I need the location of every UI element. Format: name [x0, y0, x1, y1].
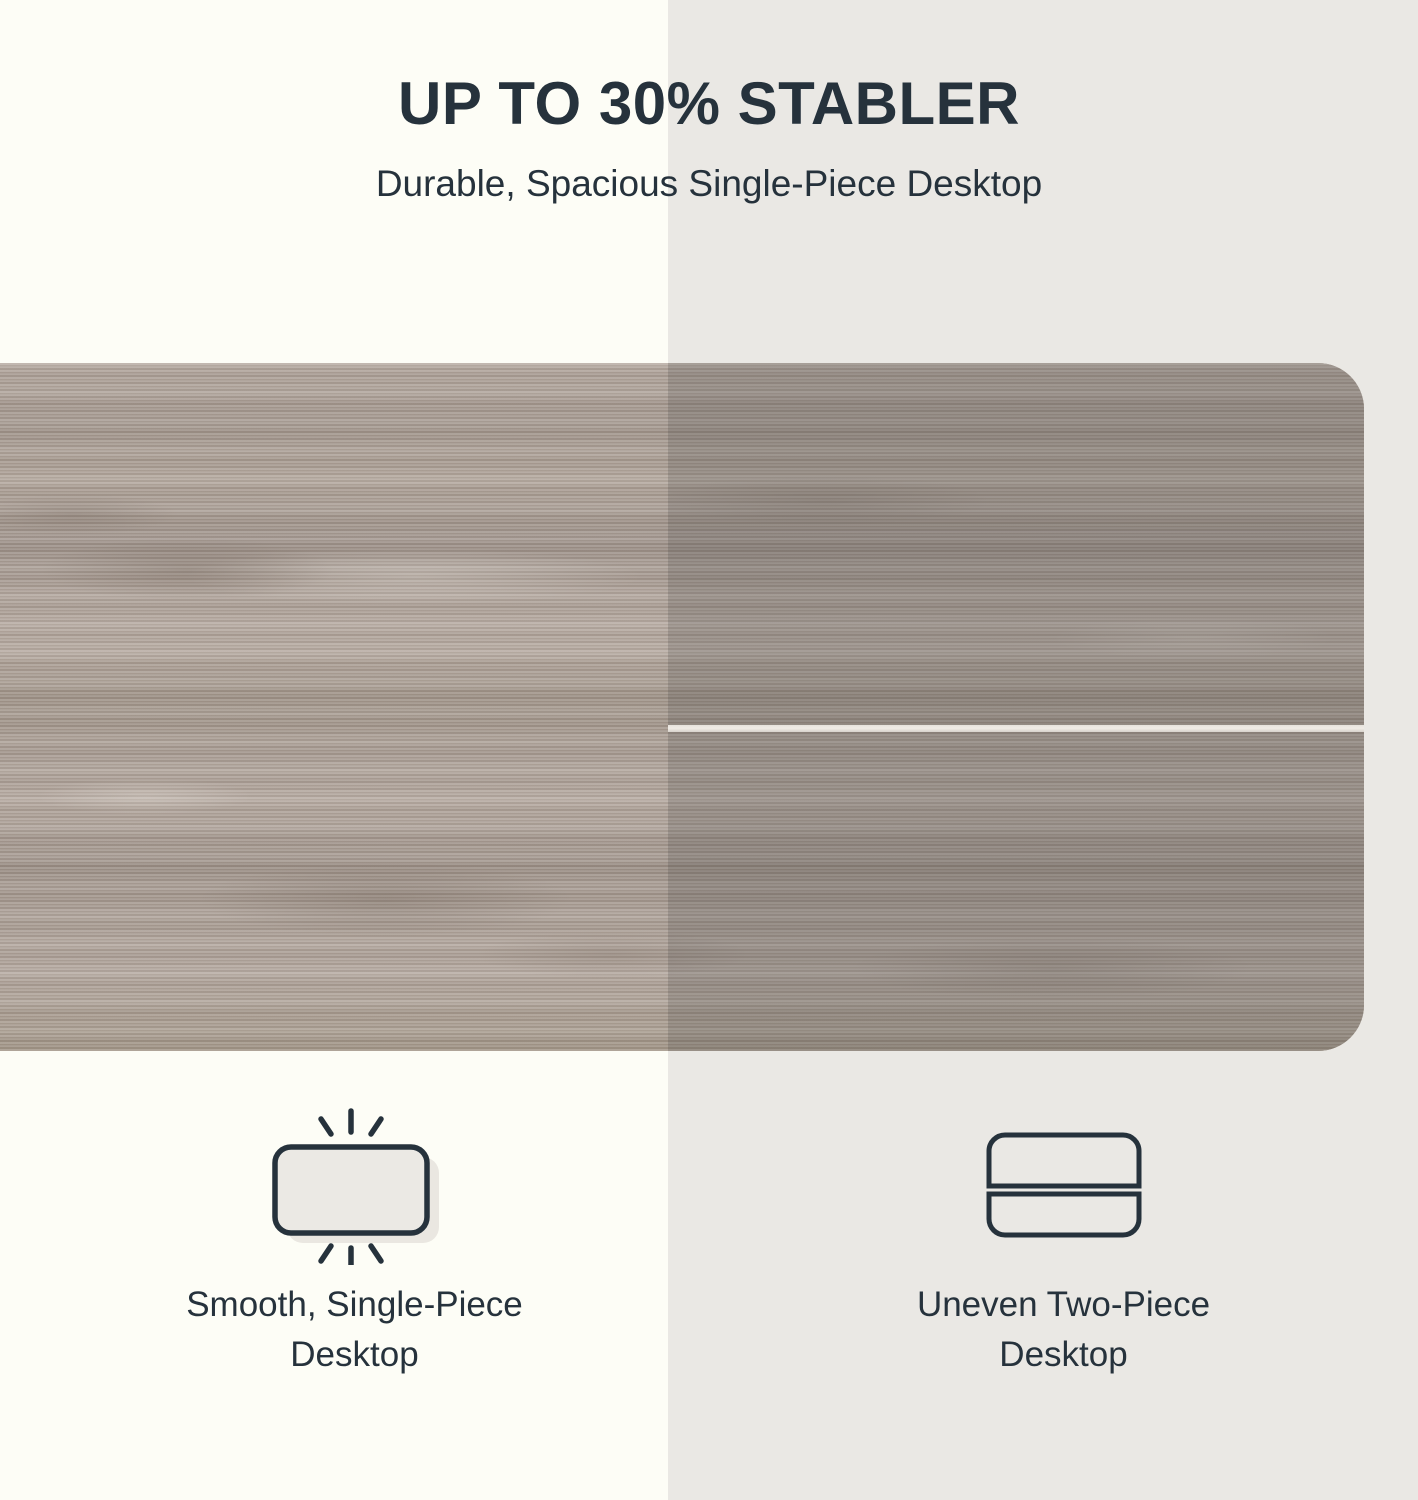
- single-piece-caption: Smooth, Single-Piece Desktop: [186, 1280, 523, 1379]
- comparison-poster: UP TO 30% STABLER Durable, Spacious Sing…: [0, 0, 1418, 1500]
- caption-line-1: Uneven Two-Piece: [917, 1285, 1210, 1324]
- comparison-columns: Smooth, Single-Piece Desktop Uneven Two-…: [0, 1090, 1418, 1450]
- caption-line-2: Desktop: [290, 1335, 418, 1374]
- comparison-column-two-piece: Uneven Two-Piece Desktop: [709, 1090, 1418, 1450]
- caption-line-2: Desktop: [999, 1335, 1127, 1374]
- single-piece-icon-slot: [265, 1090, 445, 1280]
- two-piece-icon-slot: [984, 1090, 1144, 1280]
- page-title: UP TO 30% STABLER: [0, 0, 1418, 136]
- two-piece-caption: Uneven Two-Piece Desktop: [917, 1280, 1210, 1379]
- desktop-surface-image: [0, 363, 1364, 1051]
- two-piece-seam-line: [668, 725, 1364, 732]
- comparison-column-single-piece: Smooth, Single-Piece Desktop: [0, 1090, 709, 1450]
- header-block: UP TO 30% STABLER Durable, Spacious Sing…: [0, 0, 1418, 206]
- right-half-shade-overlay: [668, 363, 1364, 1051]
- two-piece-desktop-icon: [984, 1130, 1144, 1240]
- caption-line-1: Smooth, Single-Piece: [186, 1285, 523, 1324]
- page-subtitle: Durable, Spacious Single-Piece Desktop: [0, 136, 1418, 206]
- single-piece-desktop-icon: [265, 1105, 445, 1265]
